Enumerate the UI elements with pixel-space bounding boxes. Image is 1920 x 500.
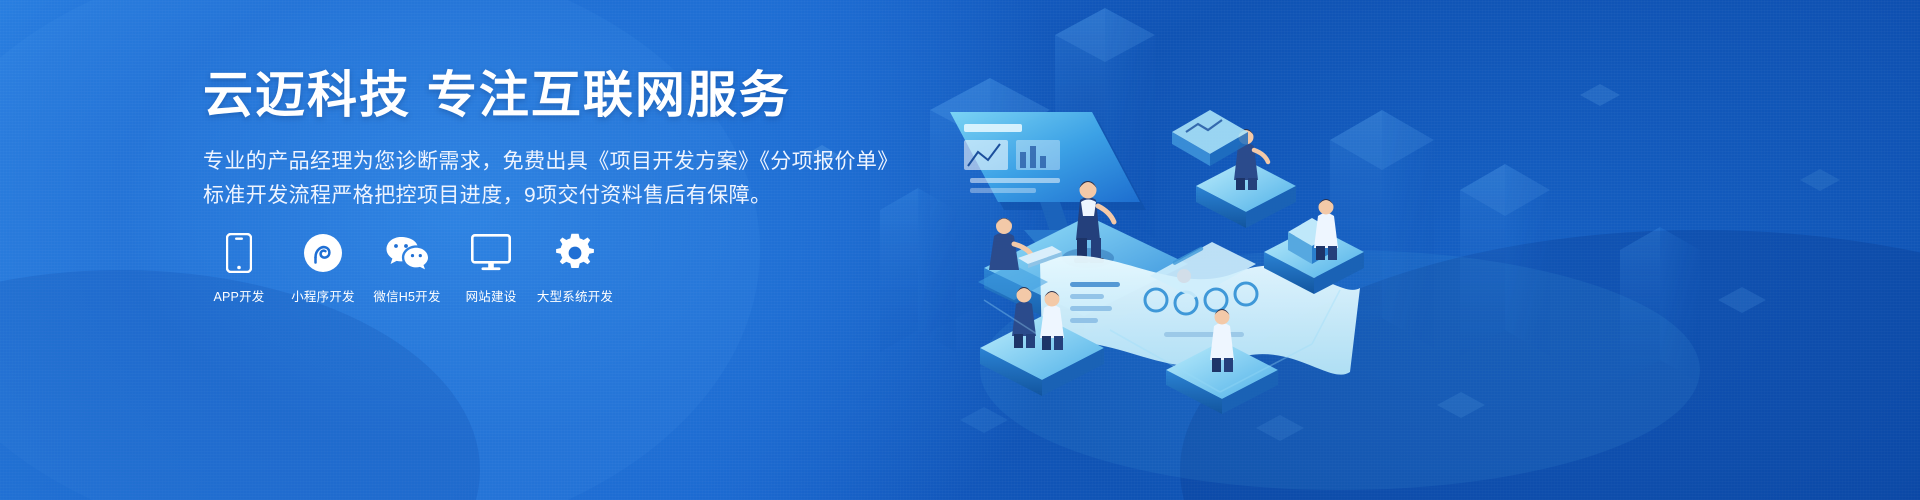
service-item-app[interactable]: APP开发 (203, 232, 275, 305)
person-bottom-left-a (1012, 287, 1036, 348)
hero-text-block: 云迈科技 专注互联网服务 专业的产品经理为您诊断需求，免费出具《项目开发方案》《… (203, 66, 963, 213)
person-presenter (1062, 181, 1114, 268)
mini-program-icon (303, 232, 343, 274)
person-right-top (1234, 129, 1268, 190)
mobile-phone-icon (226, 232, 252, 274)
hero-illustration-svg (920, 0, 1920, 500)
service-item-website[interactable]: 网站建设 (455, 232, 527, 305)
person-right-mid (1314, 199, 1338, 260)
platform-center (984, 216, 1188, 336)
hero-subtitle: 专业的产品经理为您诊断需求，免费出具《项目开发方案》《分项报价单》 标准开发流程… (203, 145, 963, 213)
floating-chart-tile (1172, 110, 1248, 166)
gear-icon (555, 232, 595, 274)
service-label: 大型系统开发 (537, 286, 613, 305)
wechat-icon-svg (385, 233, 429, 273)
platform-bottom-right (1166, 341, 1278, 414)
mini-program-icon-svg (303, 233, 343, 273)
person-bottom-left-b (1040, 291, 1064, 350)
service-label: 微信H5开发 (373, 286, 440, 305)
floating-ui-card (1150, 242, 1256, 298)
hero-illustration (920, 0, 1920, 500)
service-item-large-system[interactable]: 大型系统开发 (539, 232, 611, 305)
hero-banner: 云迈科技 专注互联网服务 专业的产品经理为您诊断需求，免费出具《项目开发方案》《… (0, 0, 1920, 500)
platform-right-mid (1264, 218, 1364, 294)
service-item-wechat-h5[interactable]: 微信H5开发 (371, 232, 443, 305)
page-title: 云迈科技 专注互联网服务 (203, 66, 963, 125)
gear-icon-svg (555, 233, 595, 273)
service-item-mini-program[interactable]: 小程序开发 (287, 232, 359, 305)
service-label: 网站建设 (466, 286, 517, 305)
monitor-icon (471, 232, 511, 274)
person-bottom-right (1210, 309, 1234, 372)
platform-right-top (1196, 160, 1296, 228)
service-label: 小程序开发 (291, 286, 355, 305)
mobile-phone-icon-svg (226, 233, 252, 273)
person-seated-laptop (978, 218, 1062, 300)
service-label: APP开发 (213, 286, 264, 305)
connection-lines (984, 290, 1340, 392)
dashboard-screen (950, 112, 1146, 248)
hero-subtitle-line-2: 标准开发流程严格把控项目进度，9项交付资料售后有保障。 (203, 179, 963, 213)
monitor-icon-svg (471, 234, 511, 272)
wechat-icon (385, 232, 429, 274)
data-sheet-wave (1040, 256, 1360, 375)
platform-bottom-left (980, 316, 1104, 396)
service-list: APP开发 小程序开发 (203, 232, 623, 305)
hero-subtitle-line-1: 专业的产品经理为您诊断需求，免费出具《项目开发方案》《分项报价单》 (203, 150, 899, 173)
